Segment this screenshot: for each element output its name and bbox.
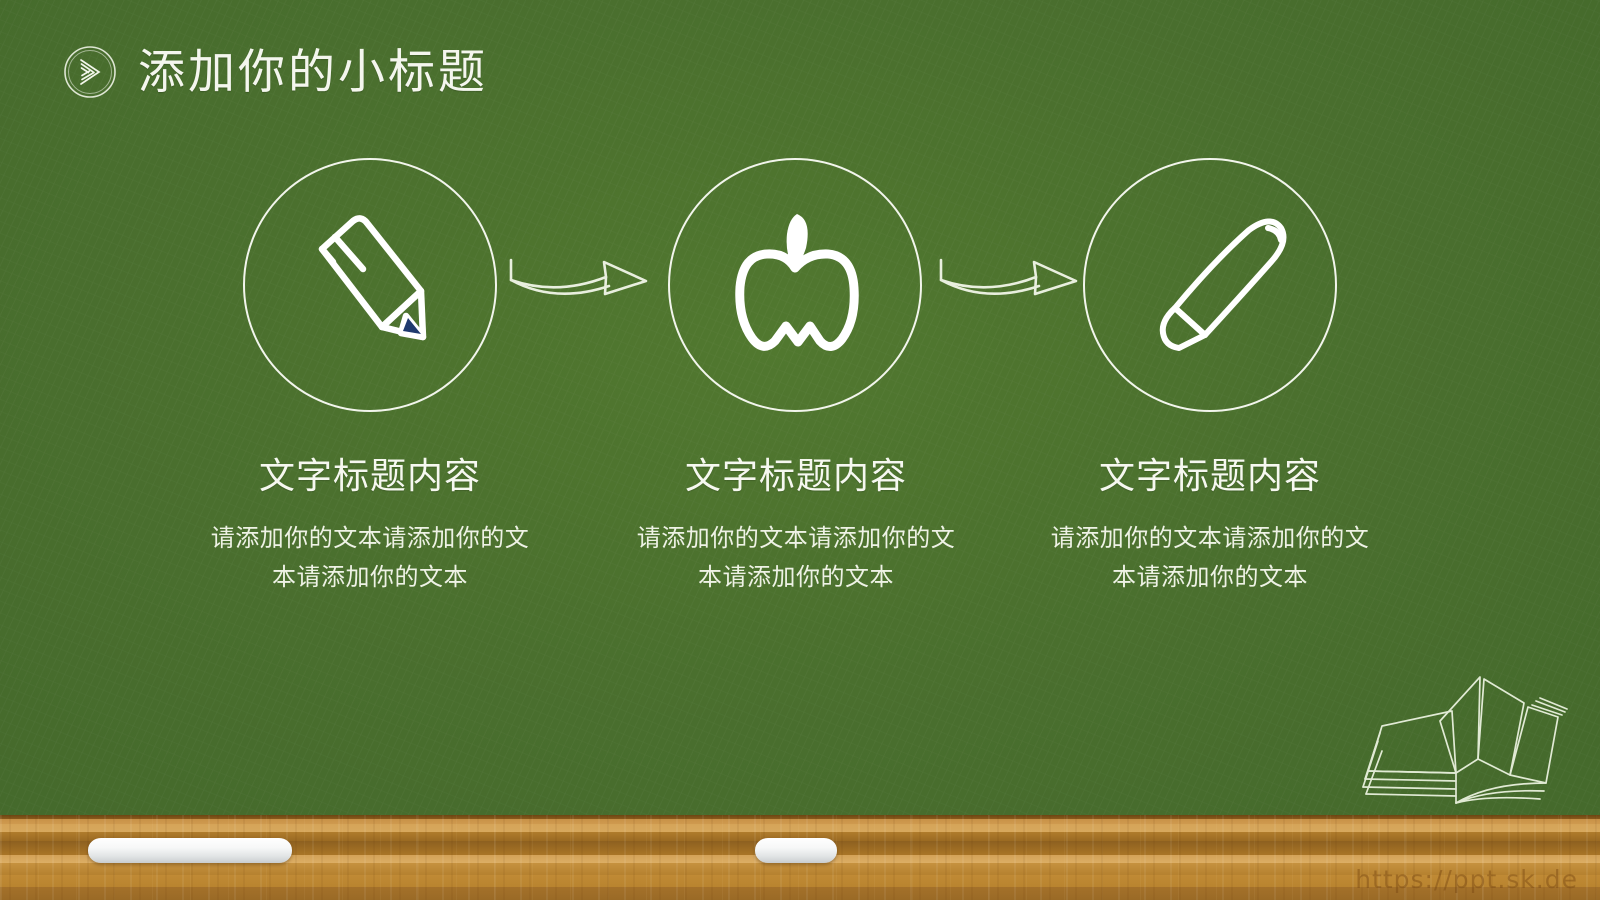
chalk-stick-2[interactable] [755, 838, 837, 863]
pencil-icon [275, 190, 465, 380]
caption-body-2: 请添加你的文本请添加你的文本请添加你的文本 [631, 519, 961, 597]
slide-header: 添加你的小标题 [62, 44, 488, 100]
open-book-icon [1360, 663, 1570, 808]
caption-column-3: 文字标题内容 请添加你的文本请添加你的文本请添加你的文本 [1024, 456, 1396, 597]
step-circle-3[interactable] [1083, 158, 1337, 412]
caption-title-3: 文字标题内容 [1024, 456, 1396, 497]
slide-canvas: 添加你的小标题 [0, 0, 1600, 900]
captions-row: 文字标题内容 请添加你的文本请添加你的文本请添加你的文本 文字标题内容 请添加你… [0, 456, 1600, 676]
chalk-stick-1[interactable] [88, 838, 292, 863]
steps-row [0, 158, 1600, 458]
chalk-ledge: https://ppt.sk.de [0, 815, 1600, 900]
caption-column-1: 文字标题内容 请添加你的文本请添加你的文本请添加你的文本 [184, 456, 556, 597]
curved-arrow-right-icon-2 [935, 250, 1085, 312]
ledge-top-lip [0, 815, 1600, 819]
caption-body-3: 请添加你的文本请添加你的文本请添加你的文本 [1045, 519, 1375, 597]
caption-column-2: 文字标题内容 请添加你的文本请添加你的文本请添加你的文本 [610, 456, 982, 597]
caption-title-1: 文字标题内容 [184, 456, 556, 497]
watermark-url: https://ppt.sk.de [1355, 865, 1578, 894]
step-circle-2[interactable] [668, 158, 922, 412]
caption-title-2: 文字标题内容 [610, 456, 982, 497]
apple-icon [700, 190, 890, 380]
circle-chevron-logo-icon [62, 44, 118, 100]
page-title: 添加你的小标题 [138, 49, 488, 96]
step-circle-1[interactable] [243, 158, 497, 412]
caption-body-1: 请添加你的文本请添加你的文本请添加你的文本 [205, 519, 535, 597]
curved-arrow-right-icon-1 [505, 250, 655, 312]
chalk-eraser-icon [1115, 190, 1305, 380]
